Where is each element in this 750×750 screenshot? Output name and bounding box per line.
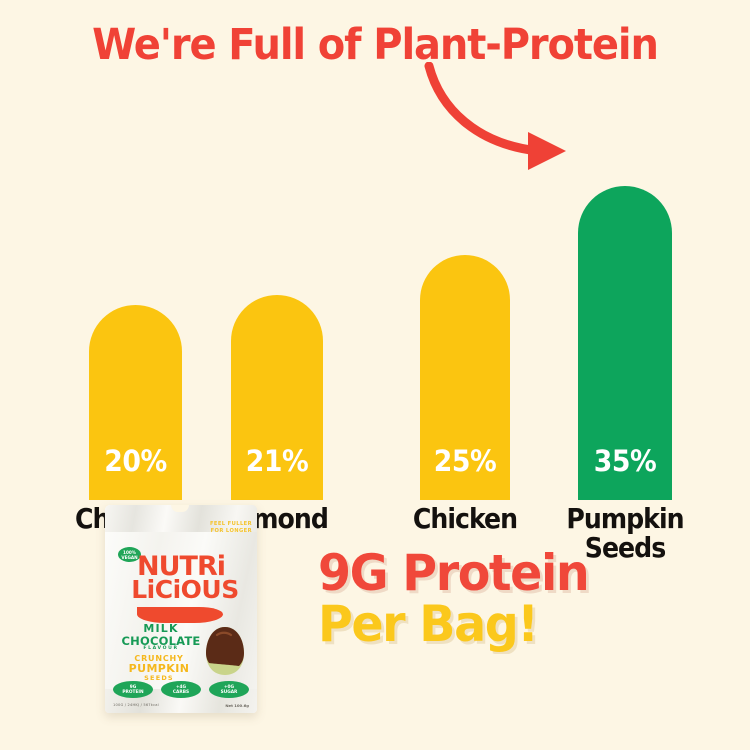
badge-sugar-top: +0G xyxy=(224,685,234,690)
bar-chickpea: 20% xyxy=(89,305,182,500)
badge-carbs: +4G CARBS xyxy=(161,681,201,698)
bar-value-pumpkin-seeds: 35% xyxy=(582,444,668,478)
bar-label-text: Chicken xyxy=(413,502,517,535)
packet-feel-fuller-text: FEEL FULLER FOR LONGER xyxy=(210,521,252,535)
badge-carbs-top: +4G xyxy=(176,685,186,690)
bar-group-pumpkin-seeds: 35% Pumpkin Seeds xyxy=(578,83,672,500)
bar-label-text: Pumpkin xyxy=(566,502,683,535)
brand-logo: NUTRi LiCiOUS xyxy=(101,555,261,601)
poster-canvas: We're Full of Plant-Protein 20% Chickpea… xyxy=(0,0,750,750)
bar-group-chickpea: 20% Chickpea xyxy=(89,83,182,500)
flavour-line2: CHOCOLATE xyxy=(109,635,213,647)
badge-protein-top: 9G xyxy=(130,685,137,690)
nutrition-badges: 9G PROTEIN +4G CARBS +0G SUGAR xyxy=(113,681,249,698)
claim-line-per-bag: Per Bag! xyxy=(318,599,698,650)
bar-value-almond: 21% xyxy=(235,444,320,478)
packet-product-text: CRUNCHY PUMPKIN SEEDS xyxy=(109,655,209,682)
bar-almond: 21% xyxy=(231,295,323,500)
bar-value-chicken: 25% xyxy=(424,444,507,478)
badge-protein-bottom: PROTEIN xyxy=(122,690,143,695)
chocolate-pumpkin-seed-icon xyxy=(205,625,245,677)
feel-fuller-line1: FEEL FULLER xyxy=(210,521,252,527)
flavour-line1: MILK xyxy=(109,623,213,635)
bar-pumpkin-seeds: 35% xyxy=(578,186,672,500)
packet-flavour-text: MILK CHOCOLATE FLAVOUR xyxy=(109,623,213,651)
badge-sugar: +0G SUGAR xyxy=(209,681,249,698)
brand-logo-line2: LiCiOUS xyxy=(109,579,261,601)
logo-swoosh-shape xyxy=(137,607,223,623)
product-packet: FEEL FULLER FOR LONGER 100% VEGAN NUTRi … xyxy=(101,497,261,719)
protein-claim: 9G Protein Per Bag! xyxy=(318,548,718,650)
packet-fineprint-left: 100G / 24HKJ / 567kcal xyxy=(113,703,159,707)
bar-label-chicken: Chicken xyxy=(398,504,533,533)
feel-fuller-line2: FOR LONGER xyxy=(211,528,252,534)
badge-carbs-bottom: CARBS xyxy=(173,690,189,695)
badge-sugar-bottom: SUGAR xyxy=(221,690,238,695)
bar-value-chickpea: 20% xyxy=(93,444,179,478)
bar-group-chicken: 25% Chicken xyxy=(420,83,510,500)
packet-fineprint-right: Net 100.6g xyxy=(225,703,249,708)
claim-line-protein: 9G Protein xyxy=(318,548,698,599)
vegan-badge-line1: 100% xyxy=(123,550,136,555)
bar-group-almond: 21% Almond xyxy=(231,83,323,500)
protein-bar-chart: 20% Chickpea 21% Almond 25% Chicken xyxy=(0,0,750,500)
bar-chicken: 25% xyxy=(420,255,510,500)
badge-protein: 9G PROTEIN xyxy=(113,681,153,698)
